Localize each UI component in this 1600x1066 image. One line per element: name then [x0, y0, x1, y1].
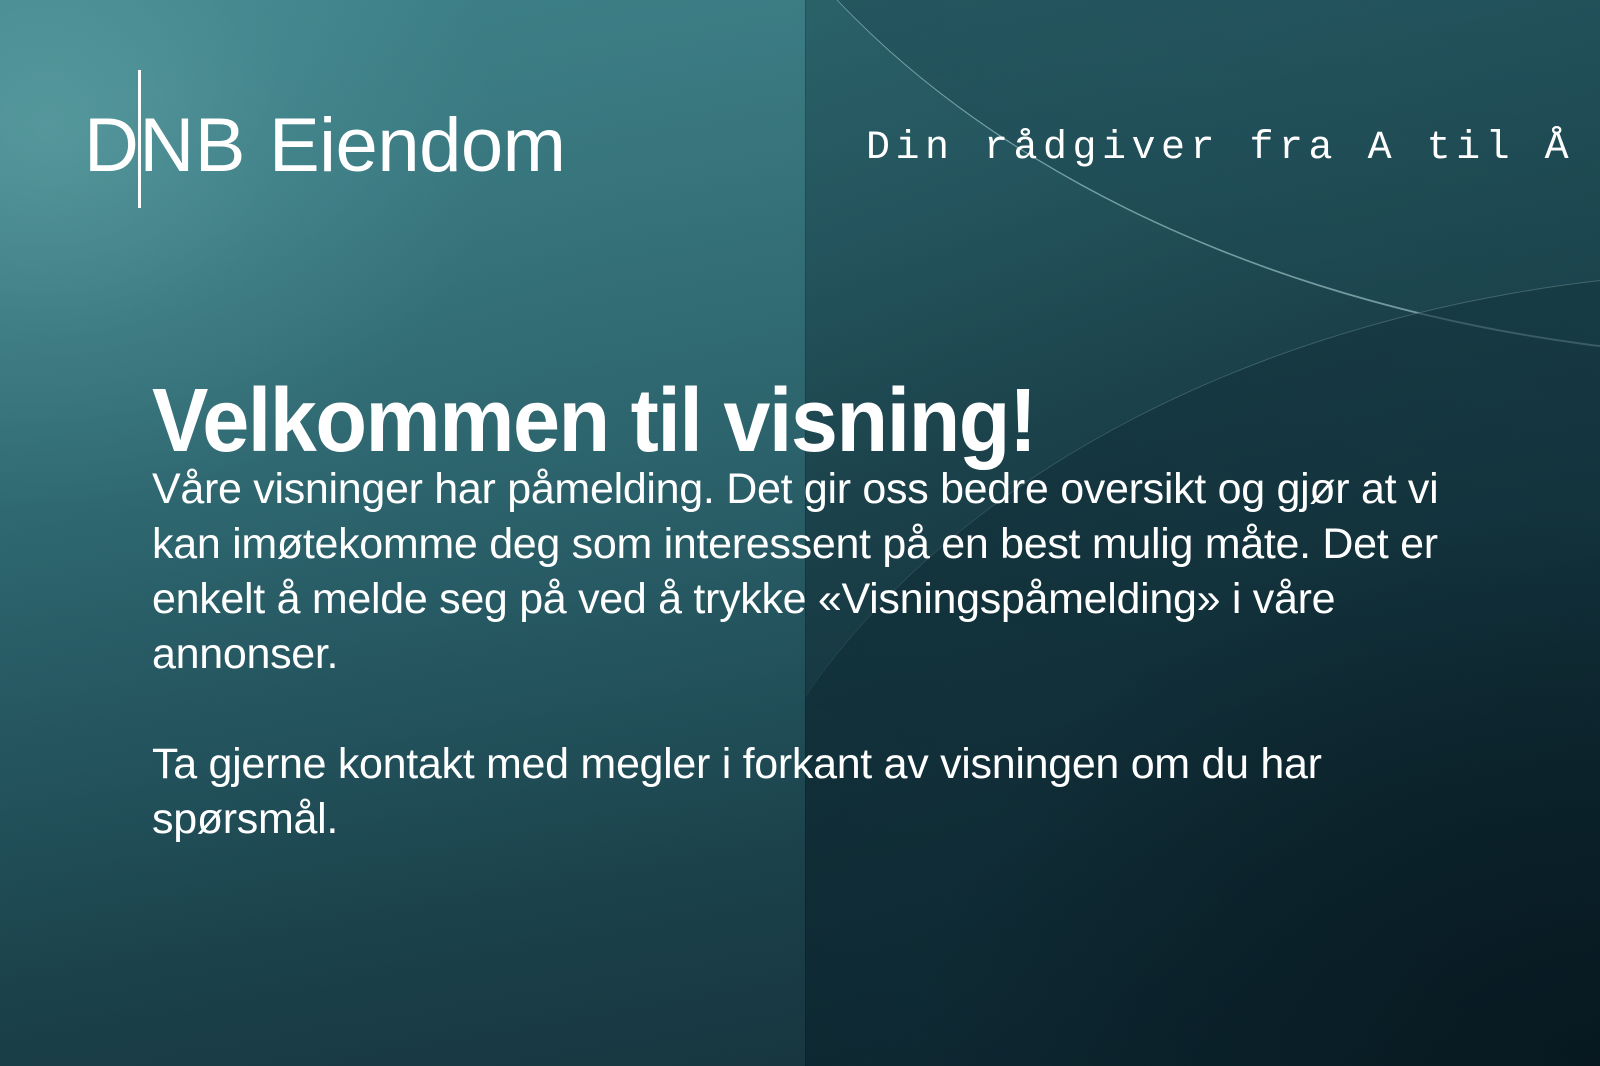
logo-letter-n: N — [139, 108, 193, 184]
body-copy: Våre visninger har påmelding. Det gir os… — [152, 462, 1452, 847]
logo-letter-d: D — [84, 108, 138, 184]
dnb-eiendom-logo: DNB Eiendom — [84, 108, 565, 192]
slide-canvas: DNB Eiendom Din rådgiver fra A til Å Vel… — [0, 0, 1600, 1066]
paragraph-spacer — [152, 682, 1452, 737]
body-paragraph-2: Ta gjerne kontakt med megler i forkant a… — [152, 737, 1452, 847]
dnb-wordmark: DNB — [84, 108, 245, 184]
brand-tagline: Din rådgiver fra A til Å — [866, 126, 1574, 171]
logo-letter-b: B — [195, 108, 245, 184]
body-paragraph-1: Våre visninger har påmelding. Det gir os… — [152, 462, 1452, 682]
slide-content: DNB Eiendom Din rådgiver fra A til Å Vel… — [0, 0, 1600, 1066]
page-title: Velkommen til visning! — [152, 376, 1036, 466]
logo-eiendom-word: Eiendom — [269, 108, 565, 184]
